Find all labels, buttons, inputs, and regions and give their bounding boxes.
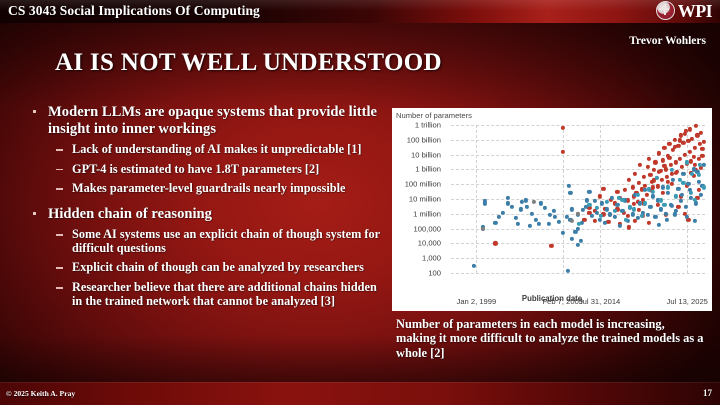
chart-data-point	[567, 184, 571, 188]
chart-data-point	[686, 182, 690, 186]
chart-y-tick-label: 1,000	[422, 254, 441, 263]
bullet-dot-icon	[33, 110, 36, 113]
chart-data-point	[615, 190, 619, 194]
chart-data-point	[632, 207, 636, 211]
bullet-level2-text: Some AI systems use an explicit chain of…	[72, 227, 380, 255]
chart-data-point	[549, 244, 553, 248]
chart-data-point	[651, 190, 655, 194]
chart-data-point	[631, 212, 635, 216]
chart-data-point	[587, 190, 591, 194]
chart-data-point	[676, 205, 680, 209]
chart-data-point	[570, 237, 574, 241]
chart-gridline	[476, 125, 477, 273]
chart-data-point	[660, 178, 664, 182]
chart-data-point	[657, 223, 661, 227]
presenter-name: Trevor Wohlers	[629, 35, 706, 47]
bullet-level2: Some AI systems use an explicit chain of…	[30, 228, 390, 255]
chart-data-point	[693, 145, 697, 149]
chart-data-point	[670, 182, 674, 186]
chart-data-point	[643, 201, 647, 205]
chart-data-point	[530, 212, 534, 216]
chart-data-point	[597, 194, 601, 198]
chart-data-point	[646, 165, 650, 169]
bullet-level2: GPT-4 is estimated to have 1.8T paramete…	[30, 163, 390, 177]
chart-data-point	[597, 218, 601, 222]
chart-data-point	[665, 218, 669, 222]
chart-data-point	[667, 156, 671, 160]
chart-data-point	[671, 178, 675, 182]
chart-data-point	[516, 222, 520, 226]
chart-data-point	[561, 231, 565, 235]
chart-data-point	[578, 239, 582, 243]
chart-data-point	[603, 221, 607, 225]
copyright-text: © 2025 Keith A. Pray	[6, 389, 75, 398]
page-title: AI IS NOT WELL UNDERSTOOD	[55, 49, 442, 77]
chart-gridline	[451, 258, 705, 259]
chart-data-point	[653, 160, 657, 164]
chart-data-point	[547, 222, 551, 226]
chart-data-point	[623, 188, 627, 192]
chart-data-point	[702, 185, 706, 189]
chart-data-point	[570, 218, 574, 222]
chart-data-point	[644, 192, 648, 196]
chart-data-point	[680, 165, 684, 169]
wpi-seal-icon	[656, 1, 675, 20]
chart-data-point	[700, 154, 704, 158]
chart-data-point	[656, 184, 660, 188]
bullet-level2: Explicit chain of though can be analyzed…	[30, 261, 390, 275]
chart-data-point	[648, 205, 652, 209]
chart-data-point	[595, 206, 599, 210]
chart-y-tick-label: 100 million	[405, 180, 441, 189]
page-number: 17	[703, 388, 712, 398]
chart-data-point	[638, 163, 642, 167]
chart-data-point	[552, 209, 556, 213]
chart-data-point	[683, 153, 687, 157]
chart-data-point	[666, 185, 670, 189]
chart-y-axis-label: Number of parameters	[396, 111, 472, 120]
chart-data-point	[519, 207, 523, 211]
bullet-dash-icon	[56, 267, 63, 269]
bullet-level2-text: Lack of understanding of AI makes it unp…	[72, 142, 361, 156]
chart-data-point	[681, 172, 685, 176]
bullet-level2-text: Explicit chain of though can be analyzed…	[72, 260, 364, 274]
chart-data-point	[599, 214, 603, 218]
chart-plot-area: 1 trillion100 billion10 billion1 billion…	[451, 125, 705, 273]
chart-data-point	[528, 224, 532, 228]
chart-data-point	[514, 216, 518, 220]
chart-data-point	[648, 173, 652, 177]
chart-x-axis-label: Publication date	[392, 294, 712, 303]
chart-data-point	[493, 221, 497, 225]
chart-data-point	[697, 173, 701, 177]
bullet-level1-text: Hidden chain of reasoning	[48, 206, 212, 222]
bullet-level2: Researcher believe that there are additi…	[30, 281, 390, 308]
chart-data-point	[570, 207, 574, 211]
chart-data-point	[689, 191, 693, 195]
chart-data-point	[700, 147, 704, 151]
bullet-content: Modern LLMs are opaque systems that prov…	[30, 104, 390, 308]
chart-data-point	[633, 172, 637, 176]
chart-y-tick-label: 10 million	[409, 195, 441, 204]
chart-data-point	[658, 207, 662, 211]
chart-data-point	[694, 201, 698, 205]
bullet-dash-icon	[56, 169, 63, 171]
chart-data-point	[605, 200, 609, 204]
chart-data-point	[481, 227, 485, 231]
chart-data-point	[497, 215, 501, 219]
chart-data-point	[647, 221, 651, 225]
chart-data-point	[592, 218, 596, 222]
chart-data-point	[539, 201, 543, 205]
chart-data-point	[548, 213, 552, 217]
bullet-level2-text: GPT-4 is estimated to have 1.8T paramete…	[72, 162, 319, 176]
slide-canvas: CS 3043 Social Implications Of Computing…	[0, 0, 720, 405]
chart-data-point	[693, 218, 697, 222]
chart-data-point	[537, 222, 541, 226]
chart-data-point	[605, 207, 609, 211]
chart-data-point	[632, 202, 636, 206]
chart-y-tick-label: 100	[428, 269, 441, 278]
chart-data-point	[658, 198, 662, 202]
bullet-dash-icon	[56, 234, 63, 236]
bullet-dash-icon	[56, 287, 63, 289]
chart-data-point	[661, 158, 665, 162]
chart-data-point	[672, 144, 676, 148]
chart-data-point	[647, 157, 651, 161]
chart-data-point	[636, 193, 640, 197]
chart-data-point	[600, 201, 604, 205]
chart-y-tick-label: 100,000	[414, 224, 441, 233]
chart-data-point	[642, 175, 646, 179]
chart-data-point	[680, 193, 684, 197]
bullet-level2-text: Makes parameter-level guardrails nearly …	[72, 181, 345, 195]
chart-data-point	[674, 160, 678, 164]
header-bar: CS 3043 Social Implications Of Computing…	[0, 0, 720, 23]
chart-data-point	[697, 157, 701, 161]
chart-data-point	[524, 198, 528, 202]
chart-y-tick-label: 10,000	[418, 239, 441, 248]
wpi-wordmark: WPI	[678, 2, 712, 20]
chart-gridline	[687, 125, 688, 273]
bullet-level1: Hidden chain of reasoning	[30, 206, 390, 223]
wpi-logo: WPI	[656, 1, 712, 20]
chart-data-point	[683, 132, 687, 136]
bullet-level2: Lack of understanding of AI makes it unp…	[30, 143, 390, 157]
chart-data-point	[613, 209, 617, 213]
chart-data-point	[510, 205, 514, 209]
chart-y-tick-label: 1 trillion	[415, 121, 441, 130]
chart-y-tick-label: 1 million	[413, 209, 441, 218]
chart-data-point	[601, 187, 605, 191]
chart-data-point	[671, 148, 675, 152]
chart-data-point	[674, 194, 678, 198]
chart-data-point	[661, 185, 665, 189]
chart-data-point	[568, 191, 572, 195]
chart-data-point	[681, 141, 685, 145]
bullet-level1: Modern LLMs are opaque systems that prov…	[30, 104, 390, 137]
chart-data-point	[669, 163, 673, 167]
bullet-level2: Makes parameter-level guardrails nearly …	[30, 182, 390, 196]
chart-data-point	[557, 219, 561, 223]
course-title: CS 3043 Social Implications Of Computing	[8, 3, 260, 19]
chart-data-point	[553, 215, 557, 219]
chart-data-point	[576, 243, 580, 247]
chart-data-point	[606, 219, 610, 223]
chart-y-tick-label: 1 billion	[415, 165, 441, 174]
bullet-dash-icon	[56, 149, 63, 151]
chart-gridline	[563, 125, 564, 273]
bullet-level2-text: Researcher believe that there are additi…	[72, 280, 377, 308]
chart-data-point	[573, 230, 577, 234]
chart-data-point	[592, 199, 596, 203]
chart-data-point	[679, 199, 683, 203]
chart-data-point	[662, 203, 666, 207]
chart-gridline	[451, 125, 705, 126]
chart-data-point	[672, 138, 676, 142]
chart-data-point	[577, 222, 581, 226]
chart-data-point	[664, 167, 668, 171]
chart-data-point	[631, 185, 635, 189]
chart-data-point	[561, 126, 565, 130]
chart-data-point	[651, 194, 655, 198]
chart-data-point	[674, 171, 678, 175]
chart-gridline	[600, 125, 601, 273]
chart-data-point	[543, 206, 547, 210]
chart-data-point	[525, 205, 529, 209]
chart-data-point	[672, 212, 676, 216]
chart-data-point	[613, 215, 617, 219]
chart-data-point	[653, 215, 657, 219]
chart-data-point	[699, 192, 703, 196]
chart-data-point	[699, 131, 703, 135]
chart-data-point	[691, 155, 695, 159]
chart-data-point	[531, 200, 535, 204]
chart-data-point	[615, 203, 619, 207]
chart-data-point	[657, 170, 661, 174]
bullet-dash-icon	[56, 188, 63, 190]
chart-data-point	[661, 191, 665, 195]
footer-bar: © 2025 Keith A. Pray 17	[0, 382, 720, 405]
chart-data-point	[655, 176, 659, 180]
chart-data-point	[666, 191, 670, 195]
chart-data-point	[561, 150, 565, 154]
chart-caption: Number of parameters in each model is in…	[396, 317, 706, 360]
chart-data-point	[472, 264, 476, 268]
chart-data-point	[702, 163, 706, 167]
chart-data-point	[670, 204, 674, 208]
chart-data-point	[662, 145, 666, 149]
chart-data-point	[618, 224, 622, 228]
bullet-dot-icon	[33, 212, 36, 215]
chart-gridline	[451, 140, 705, 141]
chart-data-point	[627, 178, 631, 182]
chart-data-point	[652, 168, 656, 172]
chart-data-point	[678, 157, 682, 161]
chart-data-point	[694, 124, 698, 128]
chart-y-tick-label: 10 billion	[411, 150, 441, 159]
chart-data-point	[688, 127, 692, 131]
chart-data-point	[676, 144, 680, 148]
chart-data-point	[702, 140, 706, 144]
chart-data-point	[493, 241, 497, 245]
chart-data-point	[646, 213, 650, 217]
chart-gridline	[451, 199, 705, 200]
chart-data-point	[667, 142, 671, 146]
chart-y-tick-label: 100 billion	[407, 135, 441, 144]
scatter-chart: Number of parameters 1 trillion100 billi…	[392, 108, 712, 311]
chart-data-point	[688, 150, 692, 154]
chart-gridline	[451, 273, 705, 274]
section-spacer	[30, 196, 390, 206]
chart-data-point	[676, 187, 680, 191]
bullet-level1-text: Modern LLMs are opaque systems that prov…	[48, 104, 377, 137]
